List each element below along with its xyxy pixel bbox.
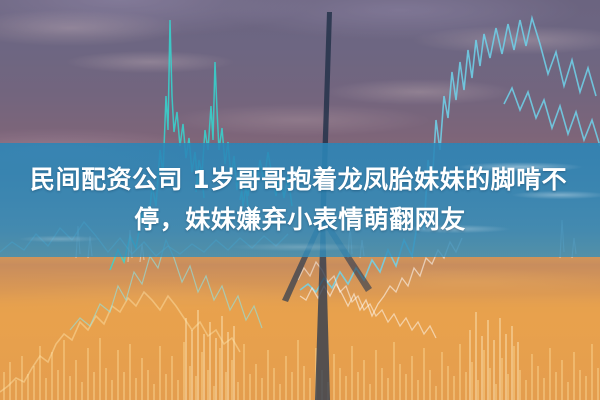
- amber-volume-bars: [4, 338, 598, 400]
- headline-block: 民间配资公司 1岁哥哥抱着龙凤胎妹妹的脚啃不 停，妹妹嫌弃小表情萌翻网友: [0, 143, 600, 257]
- headline-line-2: 停，妹妹嫌弃小表情萌翻网友: [134, 202, 466, 238]
- headline-line-1: 民间配资公司 1岁哥哥抱着龙凤胎妹妹的脚啃不: [30, 162, 567, 198]
- thumbnail-image: 民间配资公司 1岁哥哥抱着龙凤胎妹妹的脚啃不 停，妹妹嫌弃小表情萌翻网友: [0, 0, 600, 400]
